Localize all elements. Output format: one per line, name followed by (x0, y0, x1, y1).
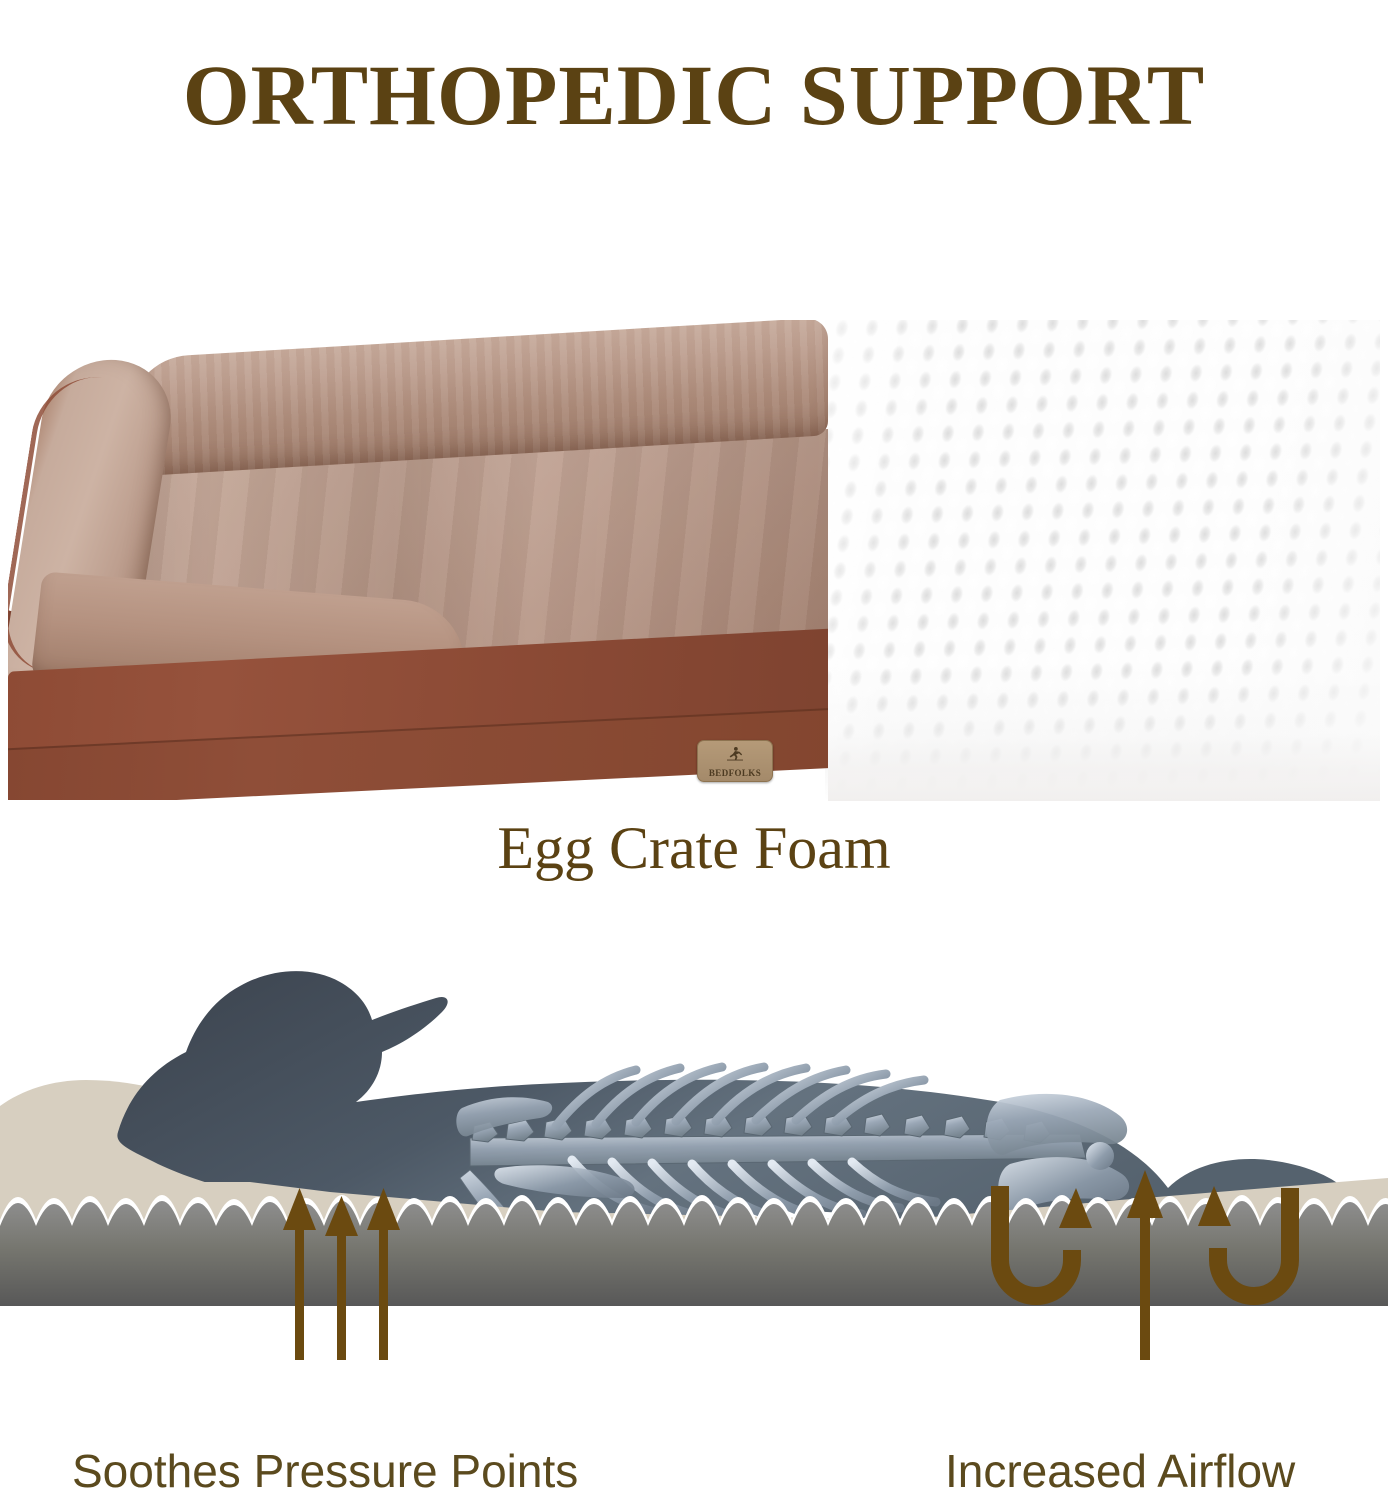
foam-shadow (828, 735, 1380, 801)
section-subtitle: Egg Crate Foam (0, 818, 1388, 878)
caption-soothes-pressure-points: Soothes Pressure Points (72, 1448, 578, 1494)
product-hero-image (8, 320, 1380, 800)
cross-section-diagram (0, 920, 1388, 1360)
pressure-arrows (283, 1188, 400, 1360)
egg-crate-foam-panel (825, 320, 1380, 800)
caption-increased-airflow: Increased Airflow (945, 1448, 1295, 1494)
brand-label-patch: BEDFOLKS (697, 740, 773, 782)
running-figure-icon (724, 746, 746, 762)
page-title: ORTHOPEDIC SUPPORT (0, 52, 1388, 138)
brand-label-text: BEDFOLKS (709, 769, 761, 778)
dog-bed-photo (8, 320, 828, 800)
